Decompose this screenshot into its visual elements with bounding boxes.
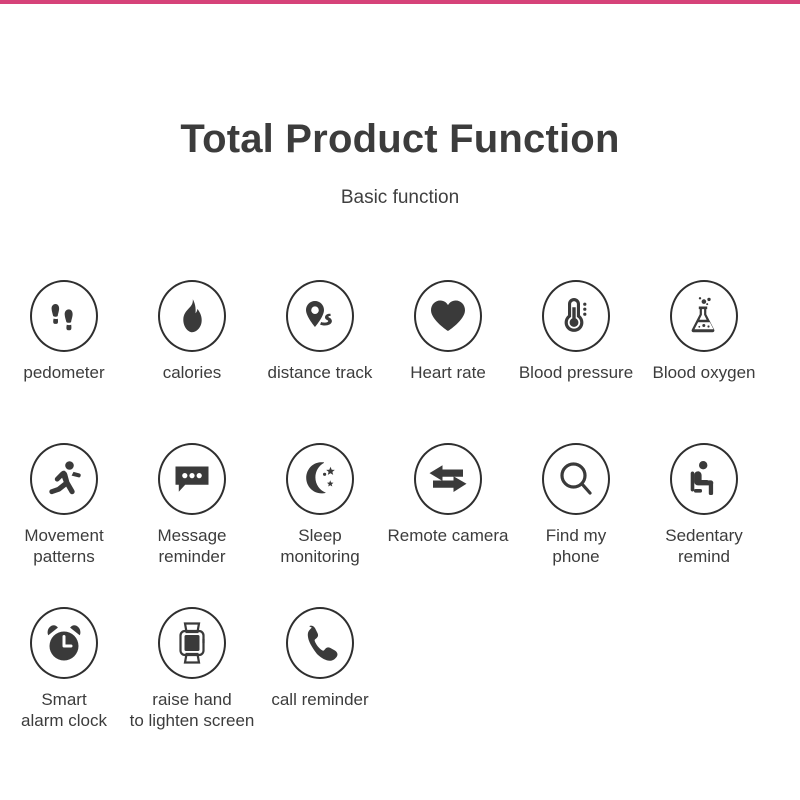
feature-item-blood-pressure[interactable]: Blood pressure bbox=[512, 280, 640, 383]
heart-icon bbox=[414, 280, 482, 352]
feature-row-inner: pedometer calories distance track bbox=[0, 280, 800, 383]
speech-bubble-icon bbox=[158, 443, 226, 515]
phone-handset-icon bbox=[286, 607, 354, 679]
two-arrows-icon bbox=[414, 443, 482, 515]
feature-row-3: Smart alarm clock raise hand to lighten … bbox=[0, 607, 800, 731]
feature-row-inner: Movement patterns Message reminder bbox=[0, 443, 800, 567]
feature-row-inner: Smart alarm clock raise hand to lighten … bbox=[0, 607, 800, 731]
feature-item-remote-camera[interactable]: Remote camera bbox=[384, 443, 512, 546]
running-person-icon bbox=[30, 443, 98, 515]
feature-item-heart-rate[interactable]: Heart rate bbox=[384, 280, 512, 383]
page-subtitle: Basic function bbox=[0, 185, 800, 211]
feature-item-sleep-monitoring[interactable]: Sleep monitoring bbox=[256, 443, 384, 567]
top-accent-bar bbox=[0, 0, 800, 4]
seated-person-icon bbox=[670, 443, 738, 515]
feature-item-movement-patterns[interactable]: Movement patterns bbox=[0, 443, 128, 567]
feature-item-smart-alarm-clock[interactable]: Smart alarm clock bbox=[0, 607, 128, 731]
flame-icon bbox=[158, 280, 226, 352]
feature-item-blood-oxygen[interactable]: Blood oxygen bbox=[640, 280, 768, 383]
moon-stars-icon bbox=[286, 443, 354, 515]
thermometer-icon bbox=[542, 280, 610, 352]
footprints-icon bbox=[30, 280, 98, 352]
feature-row-2: Movement patterns Message reminder bbox=[0, 443, 800, 567]
product-function-poster: Total Product Function Basic function pe… bbox=[0, 0, 800, 800]
feature-item-raise-hand-to-lighten-screen[interactable]: raise hand to lighten screen bbox=[128, 607, 256, 731]
alarm-clock-icon bbox=[30, 607, 98, 679]
page-title: Total Product Function bbox=[0, 113, 800, 165]
feature-label: Blood oxygen bbox=[629, 362, 779, 383]
feature-item-sedentary-remind[interactable]: Sedentary remind bbox=[640, 443, 768, 567]
feature-item-distance-track[interactable]: distance track bbox=[256, 280, 384, 383]
feature-row-1: pedometer calories distance track bbox=[0, 280, 800, 383]
feature-item-calories[interactable]: calories bbox=[128, 280, 256, 383]
map-pin-route-icon bbox=[286, 280, 354, 352]
feature-label: Sedentary remind bbox=[629, 525, 779, 567]
feature-item-call-reminder[interactable]: call reminder bbox=[256, 607, 384, 710]
magnifier-icon bbox=[542, 443, 610, 515]
feature-item-message-reminder[interactable]: Message reminder bbox=[128, 443, 256, 567]
feature-label: call reminder bbox=[245, 689, 395, 710]
feature-item-find-my-phone[interactable]: Find my phone bbox=[512, 443, 640, 567]
flask-icon bbox=[670, 280, 738, 352]
feature-item-pedometer[interactable]: pedometer bbox=[0, 280, 128, 383]
smartwatch-icon bbox=[158, 607, 226, 679]
